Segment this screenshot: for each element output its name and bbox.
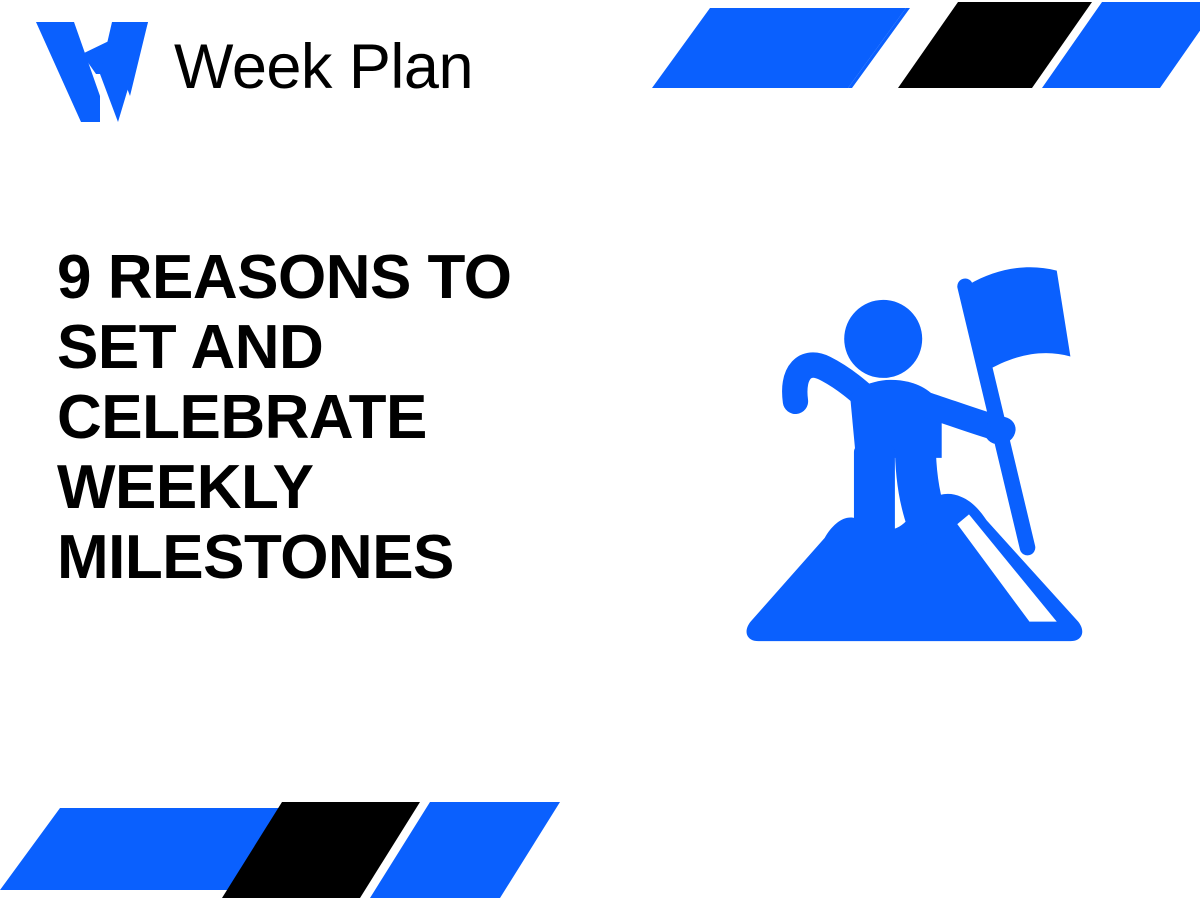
headline-line-5: MILESTONES [57, 523, 617, 593]
headline-line-3: CELEBRATE [57, 383, 617, 453]
top-right-ribbon [640, 0, 1200, 110]
headline-line-1: 9 REASONS TO [57, 243, 617, 313]
head [844, 300, 922, 378]
headline-line-2: SET AND [57, 313, 617, 383]
flag-banner [969, 267, 1070, 372]
headline-line-4: WEEKLY [57, 453, 617, 523]
poster-canvas: Week Plan 9 REASONS TO SET AND CELEBRATE… [0, 0, 1200, 900]
leg-left [854, 444, 895, 575]
brand-lockup: Week Plan [34, 18, 473, 122]
bottom-left-ribbon [0, 790, 620, 900]
page-title: 9 REASONS TO SET AND CELEBRATE WEEKLY MI… [57, 243, 617, 593]
week-plan-w-logo-icon [34, 18, 150, 122]
brand-name: Week Plan [174, 36, 473, 105]
ribbon-shape-blue-left [652, 8, 906, 88]
person-on-mountain-summit-with-flag-icon [735, 258, 1125, 648]
